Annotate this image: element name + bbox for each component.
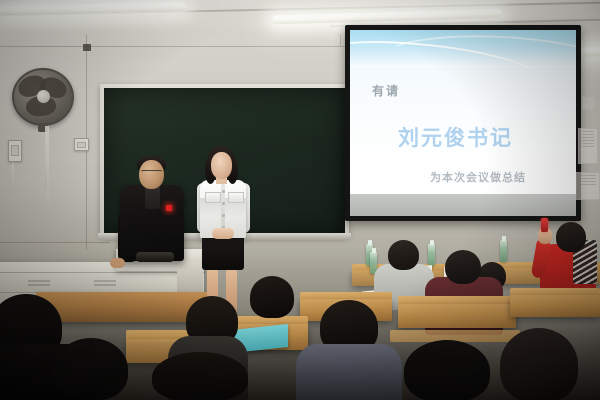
woman-black-skirt [202, 236, 244, 270]
projection-screen: 有请 刘元俊书记 为本次会议做总结 [350, 30, 576, 216]
presentation-slide: 有请 刘元俊书记 为本次会议做总结 [350, 30, 576, 194]
water-bottle [428, 244, 435, 266]
slide-line-3: 为本次会议做总结 [430, 169, 526, 185]
foreground-torso-silhouette [296, 344, 402, 400]
man-glasses-icon [141, 170, 162, 177]
wall-notice [578, 128, 598, 164]
foreground-head-silhouette [404, 340, 490, 400]
wall-seam [86, 0, 87, 250]
foreground-head-silhouette [500, 328, 578, 400]
classroom-photo: 有请 刘元俊书记 为本次会议做总结 [0, 0, 600, 400]
wall-seam [0, 46, 348, 47]
stage-bench [36, 292, 208, 322]
attendee-head [445, 250, 481, 284]
man-shirt [145, 186, 160, 209]
woman-clasped-hands [212, 228, 234, 239]
woman-head [211, 152, 232, 179]
light-switch-plate[interactable] [8, 140, 22, 162]
foreground-head-silhouette [250, 276, 294, 318]
projection-screen-frame: 有请 刘元俊书记 为本次会议做总结 [345, 25, 581, 221]
mobile-phone[interactable] [541, 218, 548, 232]
audience-desk [510, 295, 600, 317]
audience-desk [398, 304, 516, 328]
light-switch-plate[interactable] [74, 138, 89, 151]
wall-bracket [83, 44, 91, 51]
slide-header-band [350, 30, 576, 68]
red-lapel-badge [166, 205, 172, 211]
water-bottle [500, 240, 507, 262]
blouse-pocket [228, 192, 244, 203]
screen-bottom-bar [350, 194, 576, 216]
foreground-head-silhouette [152, 352, 248, 400]
slide-line-1: 有请 [372, 82, 400, 99]
attendee-head [556, 222, 586, 252]
fan-hub [37, 90, 50, 103]
man-hand [110, 258, 125, 268]
blouse-pocket [205, 192, 221, 203]
fan-pull-cord[interactable] [47, 126, 49, 214]
foreground-head-silhouette [54, 338, 128, 400]
slide-line-2-title: 刘元俊书记 [398, 122, 513, 152]
wall-fan [12, 68, 74, 126]
wall-notice [582, 96, 596, 110]
podium-object [136, 252, 174, 262]
wall-seam [0, 242, 110, 243]
attendee-head [388, 240, 419, 270]
wall-notice [576, 172, 600, 200]
